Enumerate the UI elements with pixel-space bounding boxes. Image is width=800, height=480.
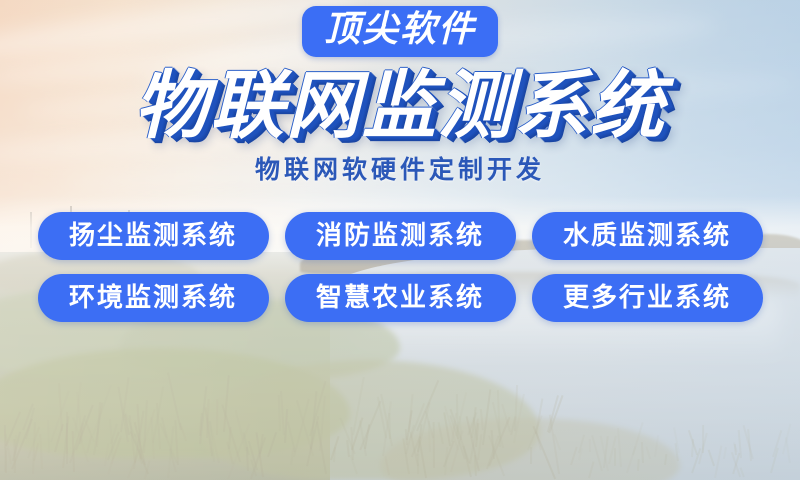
service-pill-smart-agriculture[interactable]: 智慧农业系统 (285, 274, 516, 322)
page-title: 物联网监测系统 (134, 69, 666, 143)
page-subtitle: 物联网软硬件定制开发 (255, 157, 545, 182)
service-pill-more-industries[interactable]: 更多行业系统 (532, 274, 763, 322)
service-pill-fire[interactable]: 消防监测系统 (285, 212, 516, 260)
service-pill-label: 更多行业系统 (563, 285, 731, 311)
service-pill-dust[interactable]: 扬尘监测系统 (38, 212, 269, 260)
brand-badge[interactable]: 顶尖软件 (302, 6, 498, 57)
service-pill-label: 消防监测系统 (316, 223, 484, 249)
service-pill-label: 智慧农业系统 (316, 285, 484, 311)
promo-banner: 顶尖软件 物联网监测系统 物联网软硬件定制开发 扬尘监测系统 消防监测系统 水质… (0, 0, 800, 480)
service-pill-grid: 扬尘监测系统 消防监测系统 水质监测系统 环境监测系统 智慧农业系统 更多行业系… (38, 212, 763, 322)
service-pill-label: 水质监测系统 (563, 223, 731, 249)
service-pill-environment[interactable]: 环境监测系统 (38, 274, 269, 322)
service-pill-water-quality[interactable]: 水质监测系统 (532, 212, 763, 260)
service-pill-label: 环境监测系统 (69, 285, 237, 311)
brand-badge-label: 顶尖软件 (324, 12, 476, 48)
banner-content: 顶尖软件 物联网监测系统 物联网软硬件定制开发 扬尘监测系统 消防监测系统 水质… (0, 0, 800, 480)
service-pill-label: 扬尘监测系统 (69, 223, 237, 249)
